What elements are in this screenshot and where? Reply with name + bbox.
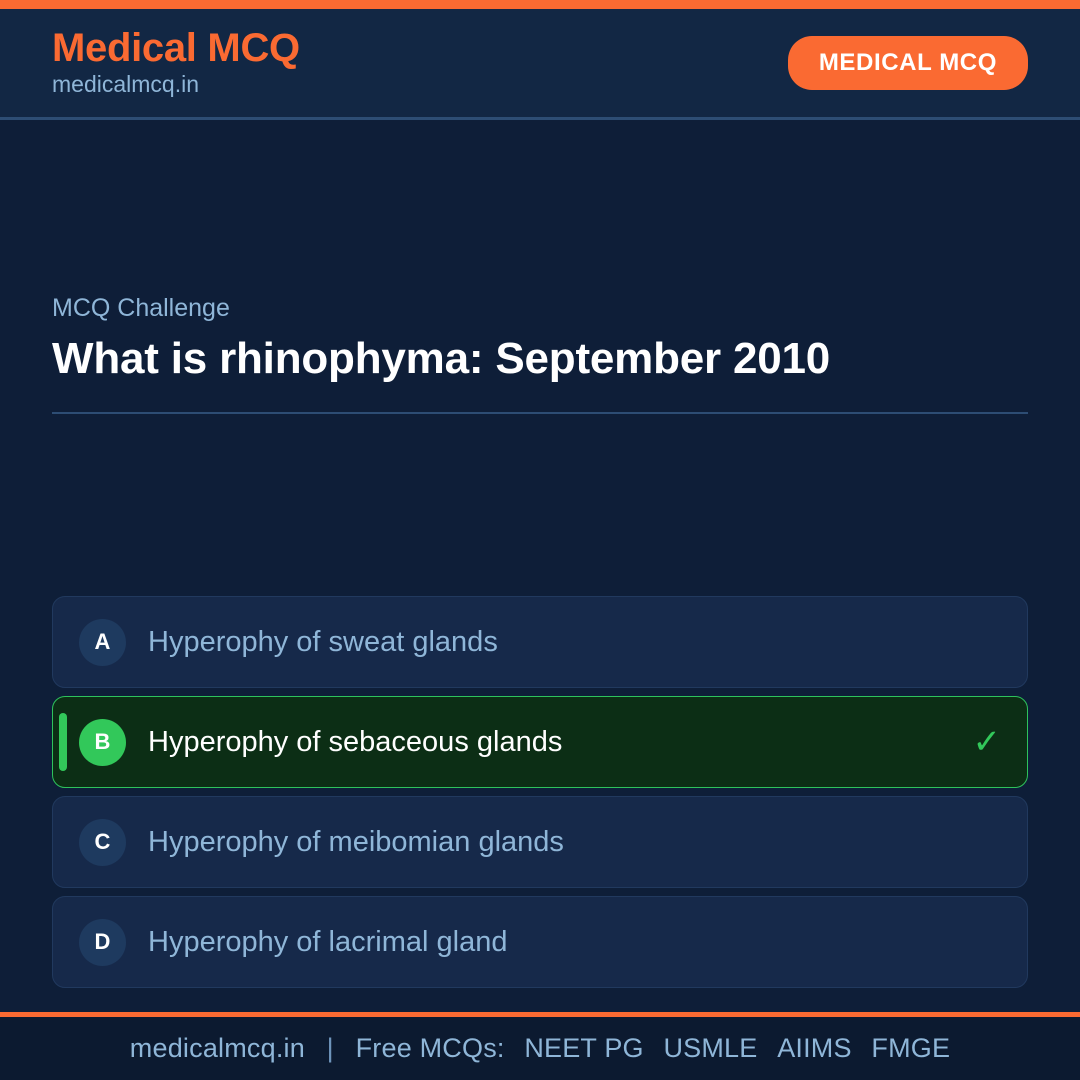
selected-accent-bar [59,713,67,771]
footer-separator: | [313,1033,348,1063]
eyebrow-label: MCQ Challenge [52,293,1028,323]
option-label: Hyperophy of lacrimal gland [148,924,1001,960]
content-area: MCQ Challenge What is rhinophyma: Septem… [0,120,1080,1012]
option-letter-badge: C [79,819,126,866]
brand-subtitle: medicalmcq.in [52,70,300,99]
option-letter-badge: D [79,919,126,966]
question-title: What is rhinophyma: September 2010 [52,332,1028,386]
option-label: Hyperophy of meibomian glands [148,824,1001,860]
option-letter-badge: B [79,719,126,766]
option-d[interactable]: D Hyperophy of lacrimal gland ✓ [52,896,1028,988]
footer-exam-aiims: AIIMS [765,1033,852,1063]
footer-exam-fmge: FMGE [859,1033,950,1063]
mcq-card: Medical MCQ medicalmcq.in MEDICAL MCQ MC… [0,0,1080,1080]
check-icon: ✓ [973,725,1002,759]
header-badge: MEDICAL MCQ [788,36,1028,90]
brand-title: Medical MCQ [52,27,300,69]
title-divider [52,412,1028,414]
options-list: A Hyperophy of sweat glands ✓ B Hyperoph… [52,596,1028,988]
page-footer: medicalmcq.in | Free MCQs: NEET PG USMLE… [0,1012,1080,1080]
option-letter-badge: A [79,619,126,666]
footer-text: medicalmcq.in | Free MCQs: NEET PG USMLE… [130,1033,950,1064]
page-header: Medical MCQ medicalmcq.in MEDICAL MCQ [0,9,1080,120]
option-label: Hyperophy of sweat glands [148,624,1001,660]
footer-label: Free MCQs: [356,1033,505,1063]
question-block: MCQ Challenge What is rhinophyma: Septem… [52,293,1028,414]
option-c[interactable]: C Hyperophy of meibomian glands ✓ [52,796,1028,888]
option-a[interactable]: A Hyperophy of sweat glands ✓ [52,596,1028,688]
footer-exam-usmle: USMLE [651,1033,757,1063]
option-b[interactable]: B Hyperophy of sebaceous glands ✓ [52,696,1028,788]
brand: Medical MCQ medicalmcq.in [52,27,300,99]
footer-site: medicalmcq.in [130,1033,305,1063]
footer-exam-neet-pg: NEET PG [512,1033,643,1063]
top-accent-bar [0,0,1080,9]
option-label: Hyperophy of sebaceous glands [148,724,959,760]
